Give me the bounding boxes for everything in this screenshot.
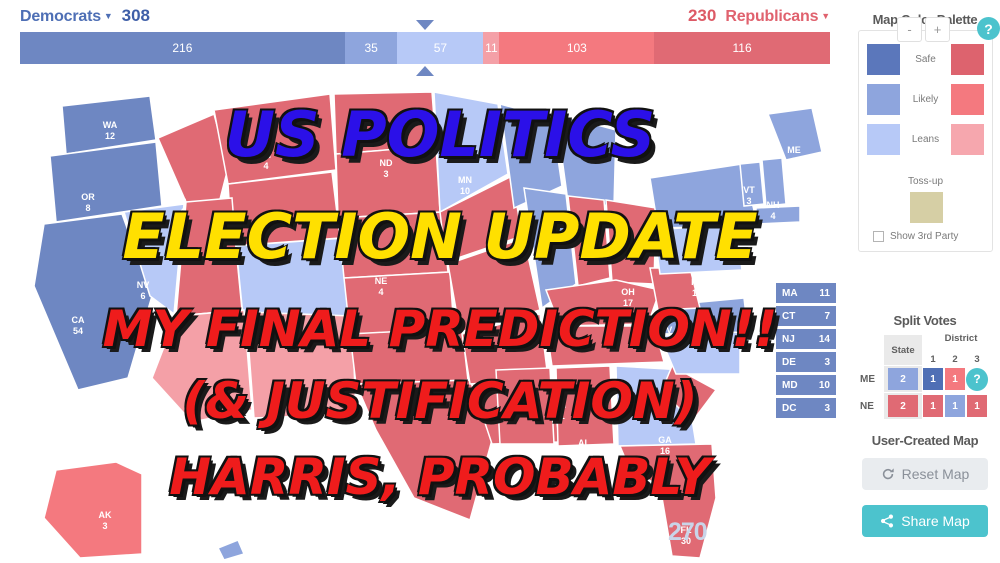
boxed-state-votes: 3 <box>824 403 830 414</box>
split-votes-district-chip[interactable]: 1 <box>923 395 943 417</box>
share-map-label: Share Map <box>901 513 969 529</box>
boxed-state-nj[interactable]: NJ14 <box>776 329 836 349</box>
state-votes-mn: 10 <box>460 186 470 196</box>
reset-map-label: Reset Map <box>902 466 970 482</box>
boxed-state-abbr: MA <box>782 288 798 299</box>
user-created-map-title: User-Created Map <box>850 433 1000 448</box>
boxed-state-ct[interactable]: CT7 <box>776 306 836 326</box>
boxed-state-list[interactable]: MA11CT7NJ14DE3MD10DC3 <box>776 283 836 421</box>
split-votes-body: ME211?NE2111 <box>860 366 994 419</box>
split-votes-state-name: NE <box>860 401 884 412</box>
district-number-2: 2 <box>944 354 966 365</box>
palette-label-safe: Safe <box>900 54 951 65</box>
state-label-wv: WV <box>658 325 673 335</box>
ec-segment-value: 216 <box>172 41 192 55</box>
state-votes-nv: 6 <box>140 291 145 301</box>
boxed-state-abbr: DE <box>782 357 796 368</box>
state-shape-ak[interactable] <box>44 462 142 558</box>
split-votes-district-cell-1: 1 <box>922 395 944 417</box>
split-votes-district-cell-3: ? <box>966 368 988 391</box>
state-shape-pa[interactable] <box>654 224 742 274</box>
state-shape-nh[interactable] <box>762 158 786 206</box>
state-votes-oh: 17 <box>623 298 633 308</box>
state-label-az: AZ <box>187 395 199 405</box>
right-sidebar: Map Color Palette - + ? SafeLikelyLeans … <box>850 0 1000 563</box>
state-shape-tn[interactable] <box>546 326 664 366</box>
refresh-icon <box>881 467 895 481</box>
palette-rep-leans-swatch[interactable] <box>951 124 984 155</box>
split-votes-header-row: State District 123 <box>860 335 994 365</box>
split-votes-title: Split Votes <box>850 313 1000 328</box>
split-votes-district-cell-2: 1 <box>944 395 966 417</box>
state-votes-ms: 6 <box>513 456 518 466</box>
state-shape-wy[interactable] <box>228 172 340 246</box>
palette-dem-leans-swatch[interactable] <box>867 124 900 155</box>
state-shape-hi[interactable] <box>218 540 244 560</box>
state-votes-mt: 4 <box>263 161 268 171</box>
democrats-label: Democrats <box>20 8 101 25</box>
district-number-1: 1 <box>922 354 944 365</box>
state-shape-ut[interactable] <box>176 198 242 316</box>
state-votes-nh: 4 <box>770 211 775 221</box>
split-votes-district-cell-3: 1 <box>966 395 988 417</box>
state-label-id: ID <box>178 196 188 206</box>
state-shape-nm[interactable] <box>246 312 356 418</box>
boxed-state-abbr: DC <box>782 403 796 414</box>
state-label-nd: ND <box>380 158 393 168</box>
state-votes-pa: 19 <box>692 288 702 298</box>
state-label-nh: NH <box>767 200 780 210</box>
share-map-button[interactable]: Share Map <box>862 505 988 537</box>
palette-decrease-button[interactable]: - <box>897 17 922 42</box>
state-votes-nd: 3 <box>383 169 388 179</box>
split-votes-district-cell-2: 1 <box>944 368 966 390</box>
ec-segment-dem-leans[interactable]: 57 <box>397 32 483 64</box>
split-votes-district-chip[interactable]: 1 <box>945 395 965 417</box>
state-label-or: OR <box>81 192 95 202</box>
split-votes-district-chip[interactable]: 1 <box>945 368 965 390</box>
chevron-down-icon: ▼ <box>104 11 113 21</box>
state-label-al: AL <box>578 438 590 448</box>
republicans-total: 230 <box>688 6 716 26</box>
state-shape-nd[interactable] <box>334 92 436 154</box>
state-shape-ny[interactable] <box>650 164 754 228</box>
chevron-down-icon: ▼ <box>821 11 830 21</box>
share-icon <box>880 514 894 528</box>
boxed-state-abbr: NJ <box>782 334 795 345</box>
reset-map-button[interactable]: Reset Map <box>862 458 988 490</box>
palette-label-leans: Leans <box>900 134 951 145</box>
state-label-ne: NE <box>375 276 388 286</box>
majority-marker-bottom-icon <box>416 66 434 76</box>
map-svg[interactable]: WA12OR8CA54NV6ID4MT4ND3MN10NE4AZ11MS6AL9… <box>0 78 850 563</box>
state-votes-wa: 12 <box>105 131 115 141</box>
state-votes-ga: 16 <box>660 446 670 456</box>
split-votes-state-cell: 2 <box>884 366 922 392</box>
tossup-swatch[interactable] <box>910 192 943 223</box>
boxed-state-abbr: CT <box>782 311 795 322</box>
state-shape-sd[interactable] <box>336 146 440 218</box>
boxed-state-votes: 14 <box>819 334 830 345</box>
state-shape-tx[interactable] <box>356 380 492 520</box>
state-label-pa: PA <box>691 277 703 287</box>
state-votes-ne: 4 <box>378 287 383 297</box>
palette-dem-likely-swatch[interactable] <box>867 84 900 115</box>
split-votes-district-cell-1: 1 <box>922 368 944 390</box>
split-votes-district-chip[interactable]: 1 <box>967 395 987 417</box>
ec-segment-rep-likely[interactable]: 103 <box>499 32 654 64</box>
state-label-nv: NV <box>137 280 150 290</box>
show-third-party-label: Show 3rd Party <box>890 231 958 242</box>
boxed-state-dc[interactable]: DC3 <box>776 398 836 418</box>
split-votes-state-chip[interactable]: 2 <box>888 395 918 417</box>
boxed-state-votes: 11 <box>819 288 830 299</box>
palette-row-likely: Likely <box>859 83 992 116</box>
ec-segment-dem-safe[interactable]: 216 <box>20 32 345 64</box>
state-label-ga: GA <box>658 435 672 445</box>
state-label-me: ME <box>787 145 801 155</box>
state-votes-tn: 11 <box>555 411 565 421</box>
state-label-ms: MS <box>509 445 523 455</box>
map-watermark: 270 <box>668 518 707 547</box>
map-color-palette-panel: - + ? SafeLikelyLeans Toss-up Show 3rd P… <box>858 30 993 252</box>
split-votes-state-name: ME <box>860 374 884 385</box>
majority-marker-top-icon <box>416 20 434 30</box>
democrats-group: Democrats▼ 308 <box>20 6 150 26</box>
republicans-label: Republicans <box>725 8 818 25</box>
state-votes-or: 8 <box>85 203 90 213</box>
boxed-state-votes: 3 <box>824 357 830 368</box>
show-third-party-checkbox[interactable] <box>873 231 884 242</box>
boxed-state-de[interactable]: DE3 <box>776 352 836 372</box>
state-shape-mt[interactable] <box>214 94 336 184</box>
ec-segment-value: 103 <box>567 41 587 55</box>
state-label-ca: CA <box>72 315 85 325</box>
state-label-oh: OH <box>621 287 635 297</box>
ec-segment-rep-safe[interactable]: 116 <box>654 32 830 64</box>
state-votes-ak: 3 <box>102 521 107 531</box>
democrats-dropdown[interactable]: Democrats▼ <box>20 8 113 26</box>
ec-segment-value: 116 <box>733 41 752 55</box>
state-votes-ca: 54 <box>73 326 83 336</box>
state-label-ak: AK <box>99 510 112 520</box>
split-votes-row-me: ME211? <box>860 366 994 392</box>
state-shape-ne[interactable] <box>338 212 448 278</box>
palette-row-leans: Leans <box>859 123 992 156</box>
republicans-dropdown[interactable]: Republicans▼ <box>725 8 830 26</box>
state-votes-id: 4 <box>179 207 184 217</box>
palette-help-icon[interactable]: ? <box>977 17 1000 40</box>
boxed-state-md[interactable]: MD10 <box>776 375 836 395</box>
palette-dem-safe-swatch[interactable] <box>867 44 900 75</box>
palette-rep-safe-swatch[interactable] <box>951 44 984 75</box>
split-votes-row-ne: NE2111 <box>860 393 994 419</box>
state-votes-wv: 4 <box>662 336 667 346</box>
ec-segment-rep-leans[interactable]: 11 <box>483 32 499 64</box>
republicans-group: 230 Republicans▼ <box>688 6 830 26</box>
show-third-party-row[interactable]: Show 3rd Party <box>873 231 958 242</box>
state-votes-al: 9 <box>581 449 586 459</box>
state-shape-ok[interactable] <box>350 328 468 384</box>
split-votes-state-header: State <box>884 335 922 365</box>
split-votes-state-cell: 2 <box>884 393 922 419</box>
state-votes-me: 2 <box>791 156 796 166</box>
state-shape-ky[interactable] <box>546 280 660 326</box>
district-number-3: 3 <box>966 354 988 365</box>
state-shape-vt[interactable] <box>740 162 764 206</box>
boxed-state-votes: 10 <box>819 380 830 391</box>
palette-row-safe: Safe <box>859 43 992 76</box>
state-label-wa: WA <box>103 120 118 130</box>
boxed-state-abbr: MD <box>782 380 798 391</box>
ec-segment-dem-likely[interactable]: 35 <box>345 32 398 64</box>
palette-increase-button[interactable]: + <box>925 17 950 42</box>
electoral-vote-header: Democrats▼ 308 230 Republicans▼ 21635571… <box>0 0 850 80</box>
split-votes-district-chip[interactable]: 1 <box>923 368 943 390</box>
state-label-vt: VT <box>743 185 755 195</box>
split-votes-table: State District 123 ME211?NE2111 <box>860 335 994 419</box>
boxed-state-ma[interactable]: MA11 <box>776 283 836 303</box>
state-label-mn: MN <box>458 175 472 185</box>
ec-segment-value: 57 <box>434 41 447 55</box>
split-votes-state-chip[interactable]: 2 <box>888 368 918 390</box>
state-votes-az: 11 <box>188 406 198 416</box>
state-shape-ms[interactable] <box>496 368 554 444</box>
democrats-total: 308 <box>122 6 150 26</box>
ec-segment-value: 35 <box>364 41 377 55</box>
electoral-vote-bar[interactable]: 216355711103116 <box>20 32 830 64</box>
state-label-mt: MT <box>260 150 273 160</box>
boxed-state-votes: 7 <box>824 311 830 322</box>
palette-label-likely: Likely <box>900 94 951 105</box>
ec-segment-value: 11 <box>485 41 497 55</box>
state-shape-mi[interactable] <box>556 114 616 206</box>
map-state-shapes[interactable] <box>34 92 822 560</box>
split-votes-district-header: District <box>928 333 994 344</box>
split-votes-help-icon[interactable]: ? <box>966 368 988 391</box>
state-shape-oh[interactable] <box>606 200 656 284</box>
state-label-tn: TN <box>554 400 566 410</box>
us-electoral-map[interactable]: WA12OR8CA54NV6ID4MT4ND3MN10NE4AZ11MS6AL9… <box>0 78 850 563</box>
palette-rep-likely-swatch[interactable] <box>951 84 984 115</box>
state-shape-ks[interactable] <box>344 272 454 334</box>
state-votes-vt: 3 <box>746 196 751 206</box>
tossup-label: Toss-up <box>859 176 992 187</box>
state-shape-az[interactable] <box>152 310 252 422</box>
palette-step-buttons: - + <box>897 17 950 42</box>
